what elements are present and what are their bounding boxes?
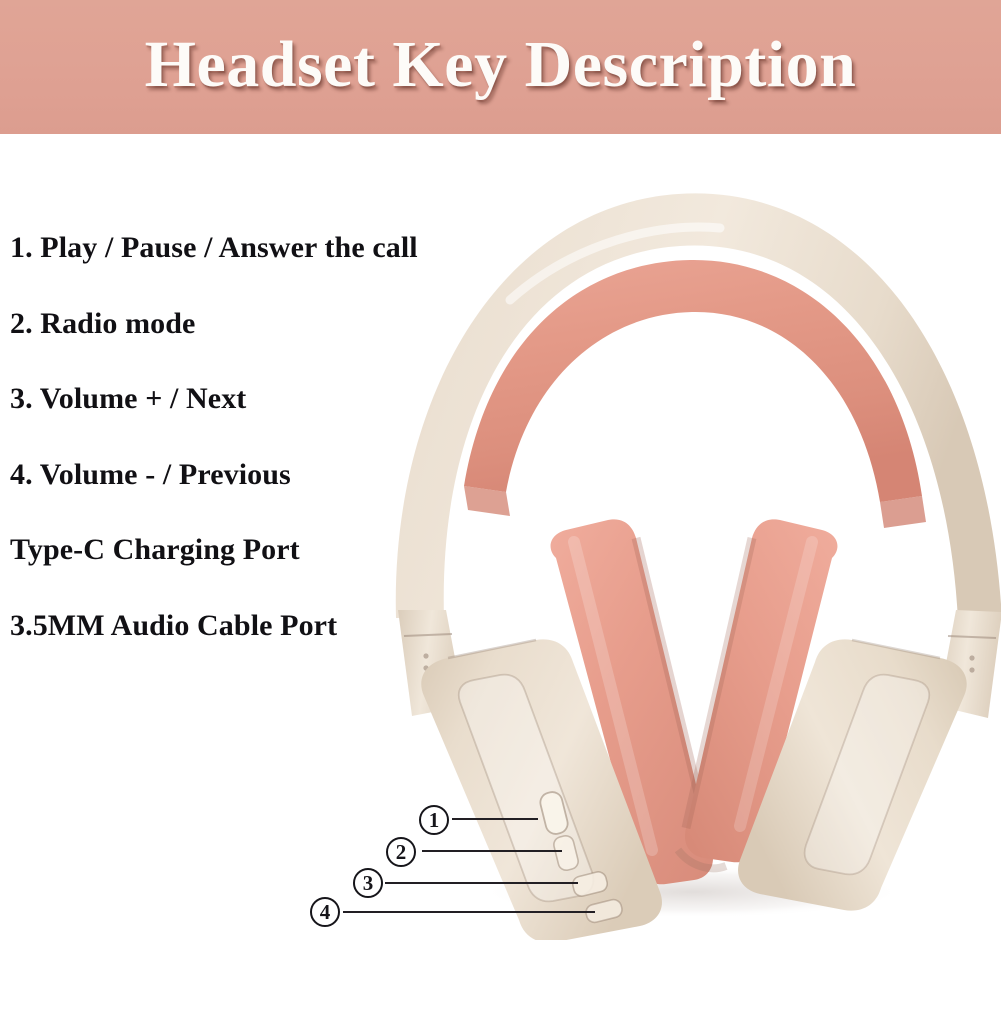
slider-dot-right: [969, 667, 974, 672]
headphones-product-image: [360, 150, 1001, 940]
leader-line-2: [422, 850, 562, 852]
callout-marker-4: 4: [310, 897, 340, 927]
leader-line-3: [385, 882, 578, 884]
page-title: Headset Key Description: [0, 0, 1001, 134]
slider-dot-left: [423, 653, 428, 658]
leader-line-4: [343, 911, 595, 913]
callout-marker-1: 1: [419, 805, 449, 835]
slider-dot-right: [969, 655, 974, 660]
callout-marker-2: 2: [386, 837, 416, 867]
title-banner: Headset Key Description: [0, 0, 1001, 134]
leader-line-1: [452, 818, 538, 820]
infographic-page: Headset Key Description 1. Play / Pause …: [0, 0, 1001, 1033]
callout-marker-3: 3: [353, 868, 383, 898]
